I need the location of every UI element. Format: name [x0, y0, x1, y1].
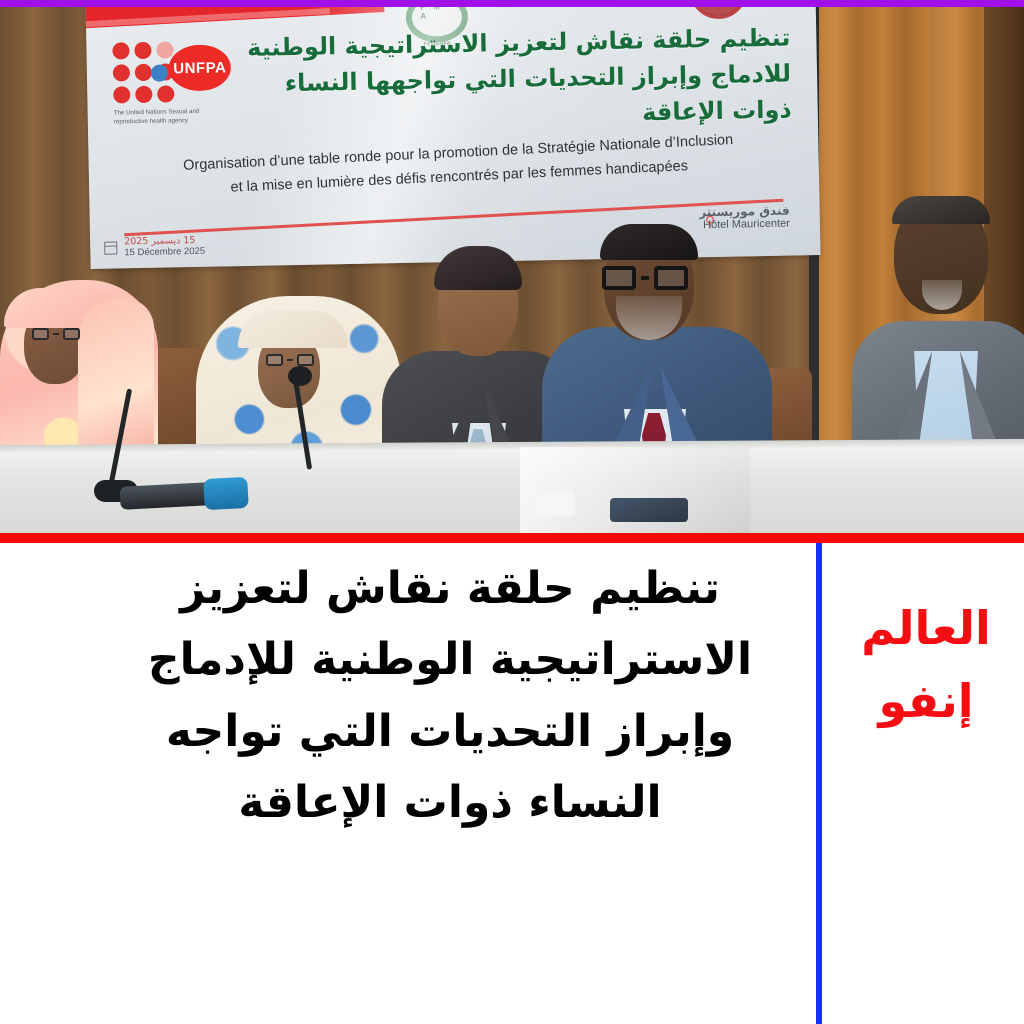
hair	[600, 224, 698, 260]
brand-line-2: إنفو	[879, 676, 974, 727]
eyeglasses-icon	[32, 328, 80, 340]
veil-front	[238, 310, 348, 348]
brand-logo: العالم إنفو	[828, 543, 1024, 1024]
date-french: 15 Décembre 2025	[124, 246, 205, 259]
microphone-capsule	[203, 477, 249, 510]
veil-drape	[78, 298, 154, 458]
gooseneck-microphone-capsule	[288, 366, 312, 386]
unfpa-wordmark: UNFPA	[168, 44, 231, 91]
eyeglasses-icon	[602, 266, 688, 290]
banner-french-text: Organisation d’une table ronde pour la p…	[118, 126, 799, 206]
caption-headline: تنظيم حلقة نقاش لتعزيز الاستراتيجية الوط…	[120, 553, 780, 838]
vertical-divider	[816, 543, 822, 1024]
document-sheet	[534, 491, 575, 516]
hair	[892, 196, 990, 224]
calendar-icon	[104, 241, 117, 254]
banner-date: 15 ديسمبر 2025 15 Décembre 2025	[124, 235, 205, 259]
brand-line-1: العالم	[861, 603, 991, 654]
unfpa-tagline: The United Nations Sexual and reproducti…	[114, 107, 224, 127]
top-accent-strip	[0, 0, 1024, 7]
hair	[434, 246, 522, 290]
smartphone	[610, 498, 688, 522]
banner-arabic-headline: تنظيم حلقة نقاش لتعزيز الاستراتيجية الوط…	[230, 20, 792, 139]
eyeglasses-icon	[266, 354, 314, 366]
news-card: UNFPA The United Nations Sexual and repr…	[0, 0, 1024, 1024]
unfpa-dot-grid: UNFPA	[112, 39, 209, 107]
red-separator-bar	[0, 533, 1024, 543]
event-photo: UNFPA The United Nations Sexual and repr…	[0, 0, 1024, 533]
